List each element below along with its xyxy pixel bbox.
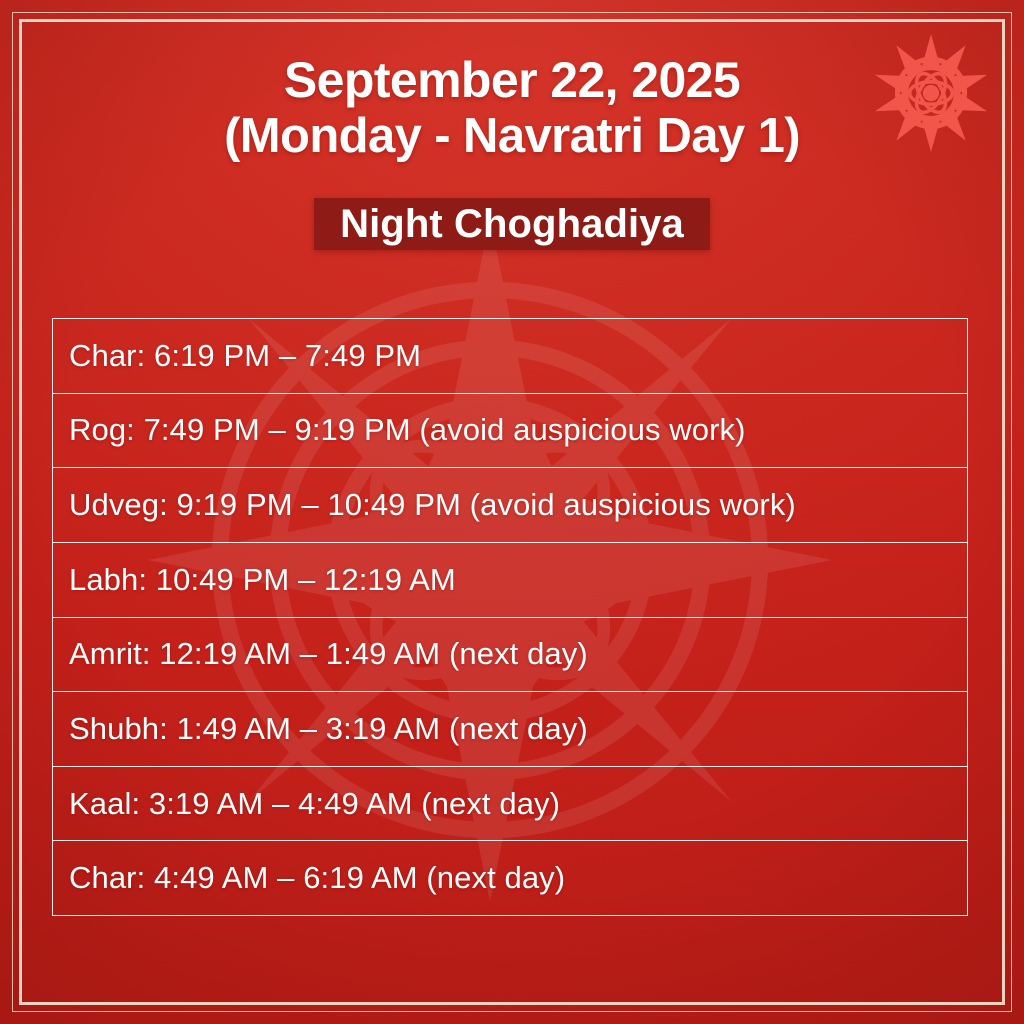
table-row-text: Labh: 10:49 PM – 12:19 AM — [69, 562, 456, 598]
page-title-line-2: (Monday - Navratri Day 1) — [0, 108, 1024, 164]
table-row: Rog: 7:49 PM – 9:19 PM (avoid auspicious… — [53, 394, 967, 469]
poster-header: September 22, 2025 (Monday - Navratri Da… — [0, 52, 1024, 164]
choghadiya-poster: September 22, 2025 (Monday - Navratri Da… — [0, 0, 1024, 1024]
table-row-text: Udveg: 9:19 PM – 10:49 PM (avoid auspici… — [69, 487, 796, 523]
table-row-text: Char: 4:49 AM – 6:19 AM (next day) — [69, 860, 565, 896]
table-row: Udveg: 9:19 PM – 10:49 PM (avoid auspici… — [53, 468, 967, 543]
table-row-text: Kaal: 3:19 AM – 4:49 AM (next day) — [69, 786, 560, 822]
table-row: Labh: 10:49 PM – 12:19 AM — [53, 543, 967, 618]
table-row: Amrit: 12:19 AM – 1:49 AM (next day) — [53, 618, 967, 693]
table-row-text: Char: 6:19 PM – 7:49 PM — [69, 338, 421, 374]
table-row: Shubh: 1:49 AM – 3:19 AM (next day) — [53, 692, 967, 767]
table-row: Char: 4:49 AM – 6:19 AM (next day) — [53, 841, 967, 915]
page-title-line-1: September 22, 2025 — [0, 52, 1024, 108]
section-banner-label: Night Choghadiya — [314, 198, 710, 250]
table-row-text: Amrit: 12:19 AM – 1:49 AM (next day) — [69, 636, 588, 672]
table-row-text: Rog: 7:49 PM – 9:19 PM (avoid auspicious… — [69, 412, 746, 448]
table-row-text: Shubh: 1:49 AM – 3:19 AM (next day) — [69, 711, 588, 747]
table-row: Char: 6:19 PM – 7:49 PM — [53, 319, 967, 394]
table-row: Kaal: 3:19 AM – 4:49 AM (next day) — [53, 767, 967, 842]
choghadiya-table: Char: 6:19 PM – 7:49 PM Rog: 7:49 PM – 9… — [52, 318, 968, 916]
section-banner-wrap: Night Choghadiya — [0, 198, 1024, 250]
